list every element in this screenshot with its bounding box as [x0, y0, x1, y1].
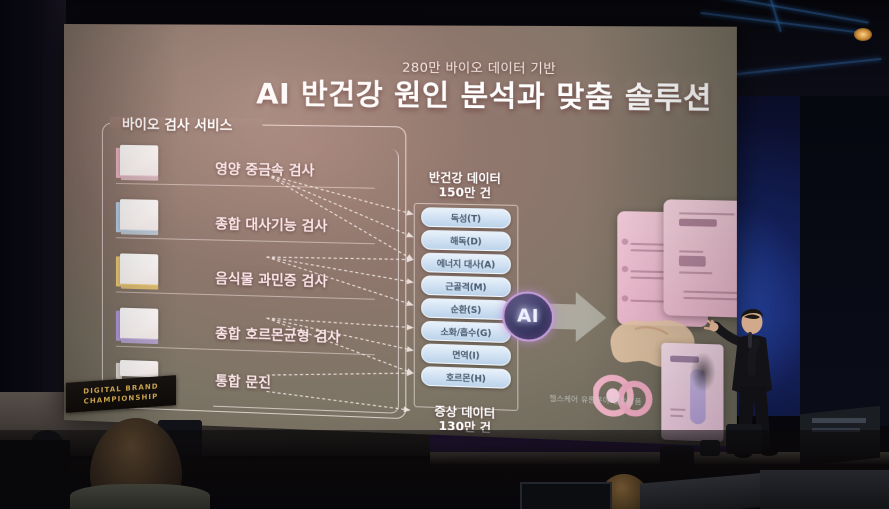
front-speaker-right: [760, 470, 889, 509]
venue-photo: 280만 바이오 데이터 기반 AI 반건강 원인 분석과 맞춤 솔루션 바이오…: [0, 0, 889, 509]
stage-monitor: [520, 482, 612, 509]
rack-panel-line: [812, 418, 866, 423]
audience-shoulders-left: [70, 484, 210, 509]
presenter-shadow: [690, 352, 716, 392]
dark-right-wall: [800, 96, 889, 426]
warm-spotlight: [854, 28, 872, 41]
dark-left-wall: [0, 0, 66, 440]
foreground-post: [0, 440, 70, 509]
